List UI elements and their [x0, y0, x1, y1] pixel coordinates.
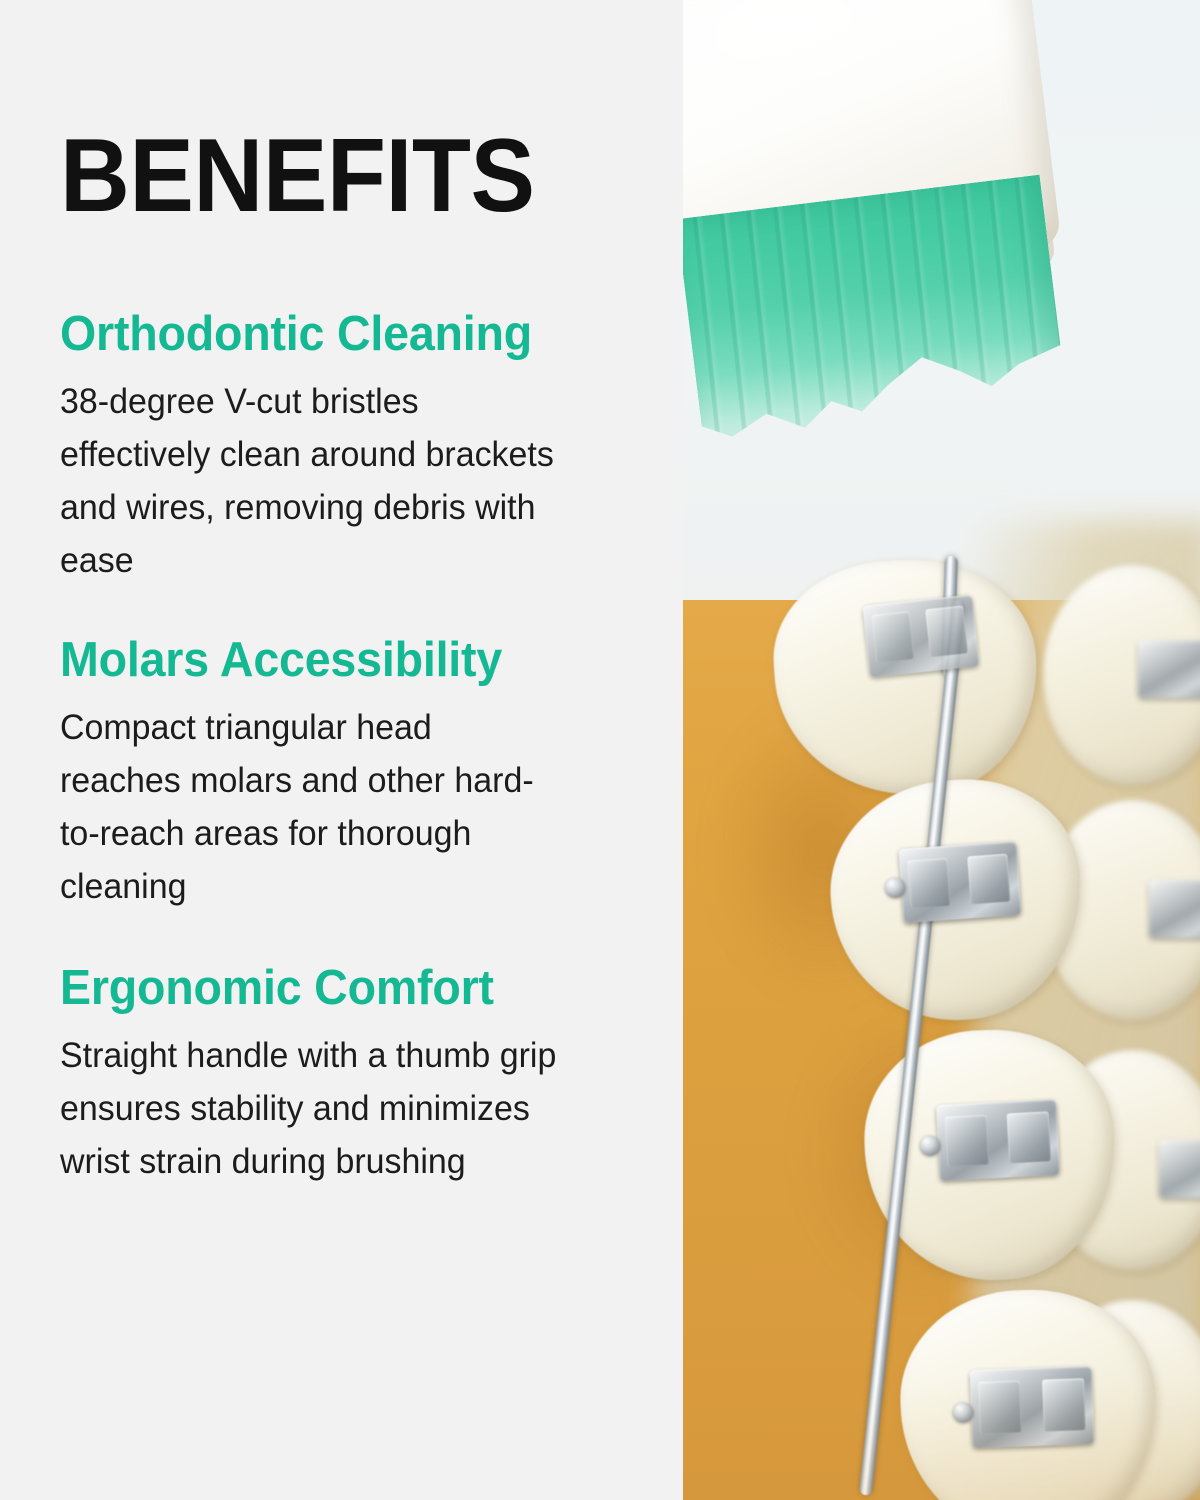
benefit-heading: Ergonomic Comfort: [60, 959, 595, 1017]
benefit-description: 38-degree V-cut bristles effectively cle…: [60, 375, 560, 587]
benefit-heading: Orthodontic Cleaning: [60, 305, 595, 363]
product-photo: [683, 0, 1200, 1500]
bracket-wing: [967, 854, 1010, 905]
photo-stage: [683, 0, 1200, 1500]
bracket-wing: [872, 611, 915, 663]
text-panel: BENEFITS Orthodontic Cleaning 38-degree …: [0, 0, 683, 1500]
bracket-wing: [945, 1115, 990, 1167]
benefit-description: Straight handle with a thumb grip ensure…: [60, 1029, 560, 1188]
orthodontic-bracket-side: [1159, 1140, 1200, 1198]
page-title: BENEFITS: [60, 124, 535, 228]
benefit-item-molars-accessibility: Molars Accessibility Compact triangular …: [0, 631, 683, 913]
benefit-description: Compact triangular head reaches molars a…: [60, 701, 560, 913]
bracket-wing: [1042, 1378, 1086, 1431]
benefits-infographic: BENEFITS Orthodontic Cleaning 38-degree …: [0, 0, 1200, 1500]
benefit-heading: Molars Accessibility: [60, 631, 595, 689]
orthodontic-bracket: [899, 841, 1022, 923]
bracket-wing: [907, 858, 950, 909]
bracket-wing: [1007, 1111, 1052, 1163]
benefit-item-ergonomic-comfort: Ergonomic Comfort Straight handle with a…: [0, 959, 683, 1188]
orthodontic-bracket-side: [1149, 880, 1200, 938]
orthodontic-bracket: [936, 1099, 1060, 1181]
bracket-wing: [978, 1380, 1022, 1433]
orthodontic-bracket-side: [1138, 640, 1200, 698]
benefit-list: Orthodontic Cleaning 38-degree V-cut bri…: [0, 305, 683, 1188]
bracket-wing: [925, 605, 968, 657]
orthodontic-bracket: [863, 594, 980, 677]
toothbrush-head-highlight: [683, 0, 941, 116]
orthodontic-bracket: [970, 1366, 1095, 1448]
benefit-item-orthodontic-cleaning: Orthodontic Cleaning 38-degree V-cut bri…: [0, 305, 683, 587]
bracket-hook: [885, 877, 906, 898]
